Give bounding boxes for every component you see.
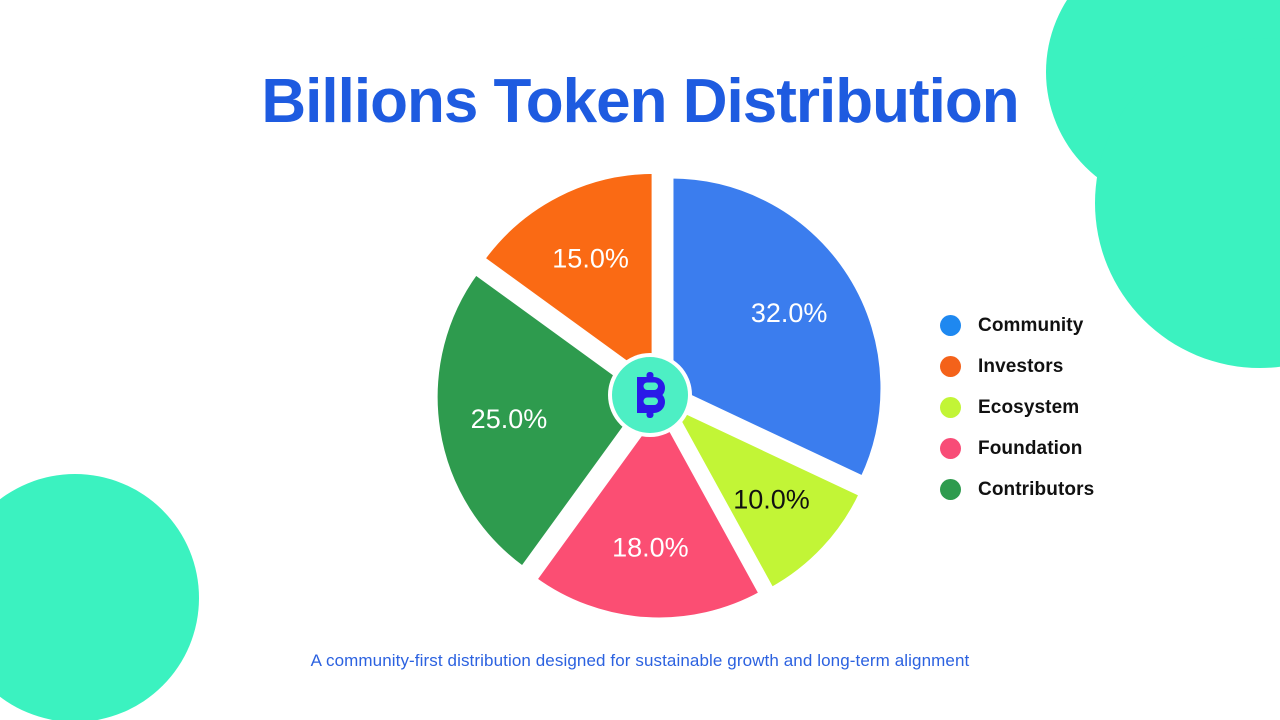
legend-item-ecosystem[interactable]: Ecosystem (940, 387, 1150, 428)
page-title: Billions Token Distribution (0, 68, 1280, 136)
legend-item-label: Community (978, 315, 1083, 337)
pie-slice-label-ecosystem: 10.0% (733, 485, 810, 515)
legend-swatch-icon (940, 315, 961, 336)
chart-subtitle: A community-first distribution designed … (0, 651, 1280, 671)
legend-item-label: Investors (978, 356, 1063, 378)
pie-chart: 32.0%10.0%18.0%25.0%15.0% (390, 150, 935, 640)
pie-slice-label-contributors: 25.0% (471, 404, 548, 434)
chart-legend: CommunityInvestorsEcosystemFoundationCon… (940, 305, 1150, 510)
billions-b-logo-icon (630, 372, 670, 418)
pie-slice-label-community: 32.0% (751, 298, 828, 328)
legend-item-contributors[interactable]: Contributors (940, 469, 1150, 510)
legend-swatch-icon (940, 438, 961, 459)
legend-item-community[interactable]: Community (940, 305, 1150, 346)
legend-swatch-icon (940, 397, 961, 418)
slide-content: Billions Token Distribution 32.0%10.0%18… (0, 0, 1280, 720)
pie-slice-label-investors: 15.0% (552, 244, 629, 274)
center-logo-badge (612, 357, 688, 433)
pie-slice-label-foundation: 18.0% (612, 533, 689, 563)
legend-swatch-icon (940, 479, 961, 500)
legend-item-label: Foundation (978, 438, 1082, 460)
legend-item-investors[interactable]: Investors (940, 346, 1150, 387)
legend-item-label: Contributors (978, 479, 1094, 501)
legend-item-foundation[interactable]: Foundation (940, 428, 1150, 469)
slide-canvas: Billions Token Distribution 32.0%10.0%18… (0, 0, 1280, 720)
legend-item-label: Ecosystem (978, 397, 1079, 419)
legend-swatch-icon (940, 356, 961, 377)
